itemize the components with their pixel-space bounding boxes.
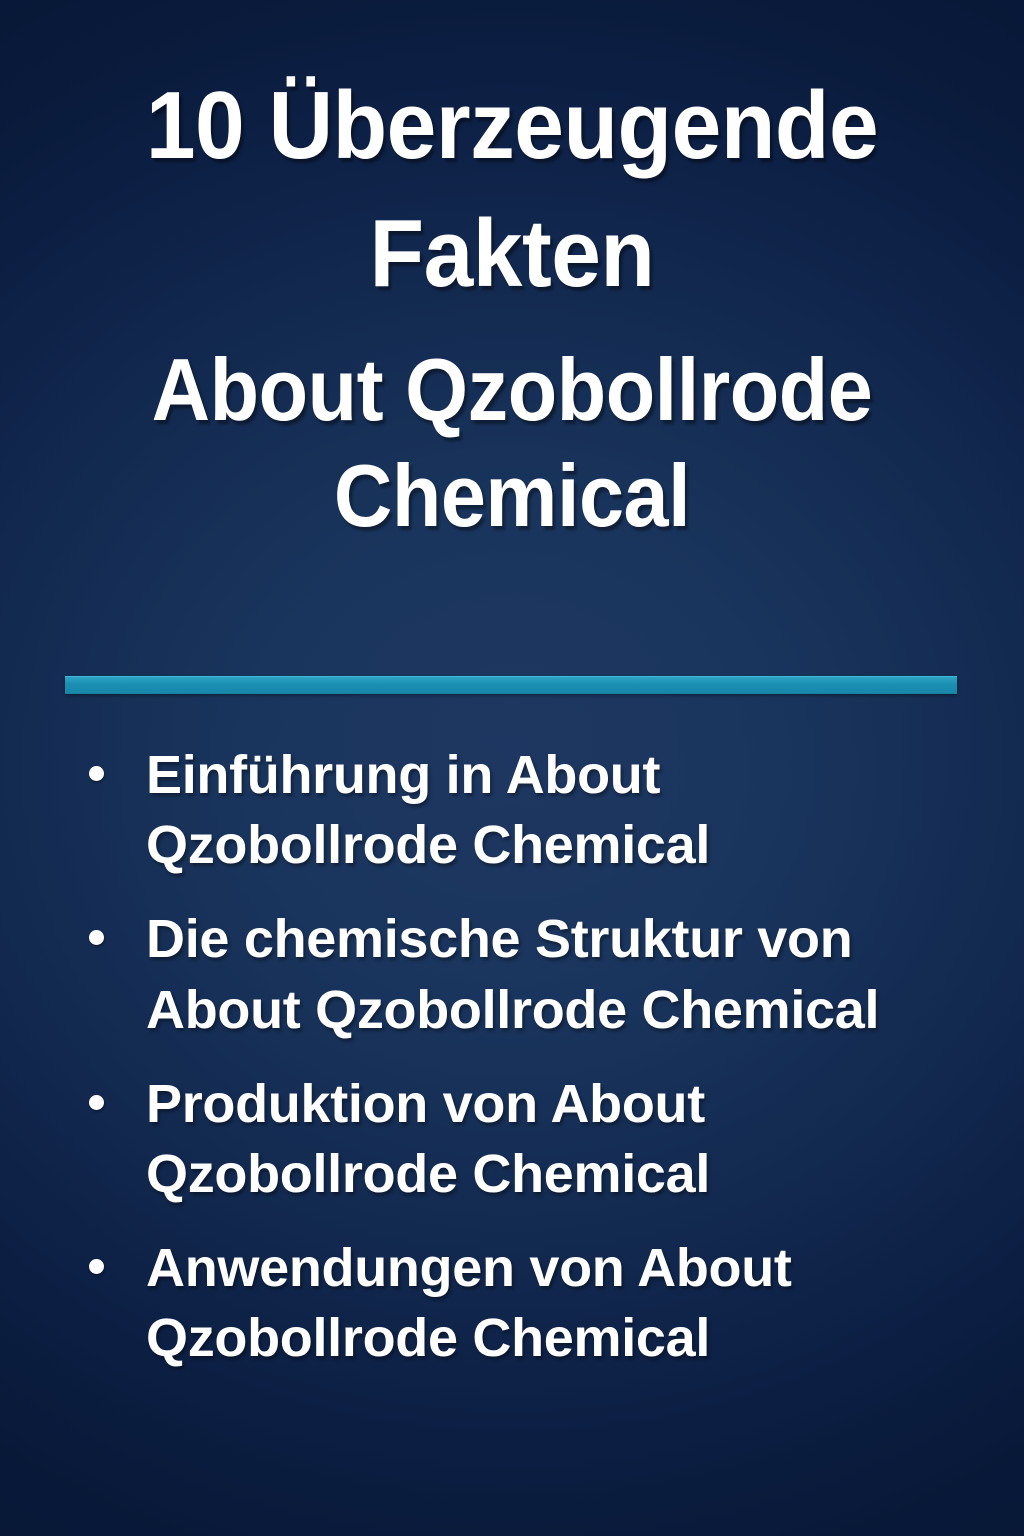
list-item-label: Die chemische Struktur von About Qzoboll… bbox=[146, 904, 958, 1044]
list-item-label: Produktion von About Qzobollrode Chemica… bbox=[146, 1069, 958, 1209]
list-item: Einführung in About Qzobollrode Chemical bbox=[78, 740, 958, 880]
list-item-label: Anwendungen von About Qzobollrode Chemic… bbox=[146, 1233, 958, 1373]
bullet-dot-icon bbox=[89, 930, 104, 945]
poster-title-block: 10 Überzeugende Fakten About Qzobollrode… bbox=[0, 0, 1024, 540]
page-title-line-4: Chemical bbox=[92, 452, 931, 540]
page-title-line-1: 10 Überzeugende bbox=[88, 78, 936, 174]
list-item: Anwendungen von About Qzobollrode Chemic… bbox=[78, 1233, 958, 1373]
facts-bullet-list: Einführung in About Qzobollrode Chemical… bbox=[78, 740, 958, 1398]
accent-divider-bar bbox=[65, 676, 957, 694]
bullet-dot-icon bbox=[89, 1095, 104, 1110]
bullet-dot-icon bbox=[89, 1259, 104, 1274]
page-title-line-2: Fakten bbox=[88, 206, 936, 302]
poster-canvas: 10 Überzeugende Fakten About Qzobollrode… bbox=[0, 0, 1024, 1536]
bullet-dot-icon bbox=[89, 766, 104, 781]
list-item: Die chemische Struktur von About Qzoboll… bbox=[78, 904, 958, 1044]
list-item: Produktion von About Qzobollrode Chemica… bbox=[78, 1069, 958, 1209]
list-item-label: Einführung in About Qzobollrode Chemical bbox=[146, 740, 958, 880]
page-title-line-3: About Qzobollrode bbox=[92, 346, 931, 434]
